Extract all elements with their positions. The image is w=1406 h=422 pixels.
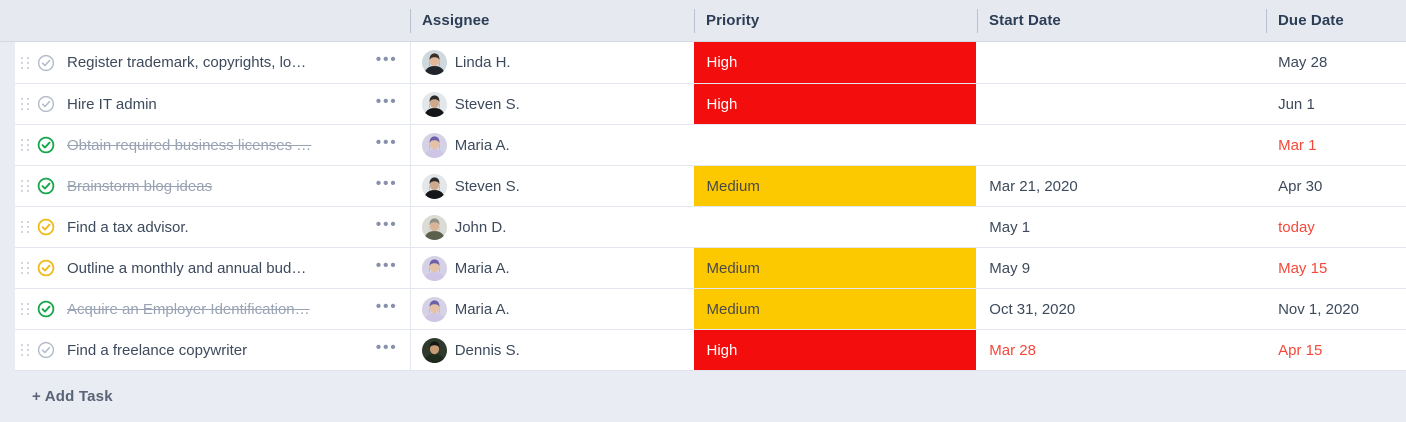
assignee-name: Steven S.: [455, 96, 520, 113]
priority-cell[interactable]: High: [694, 329, 977, 370]
check-circle-icon[interactable]: [37, 136, 55, 154]
drag-handle-icon[interactable]: [15, 57, 33, 69]
check-circle-icon[interactable]: [37, 54, 55, 72]
assignee-name: Maria A.: [455, 137, 510, 154]
start-date-value: Oct 31, 2020: [989, 301, 1075, 318]
assignee-name: Dennis S.: [455, 342, 520, 359]
due-date-value: Nov 1, 2020: [1278, 301, 1359, 318]
task-cell[interactable]: Find a tax advisor.•••: [15, 206, 410, 247]
kebab-menu-icon[interactable]: •••: [364, 140, 410, 151]
task-title: Acquire an Employer Identification…: [61, 301, 364, 318]
task-rows: Register trademark, copyrights, lo…•••Li…: [0, 42, 1406, 370]
check-circle-icon[interactable]: [37, 259, 55, 277]
kebab-menu-icon[interactable]: •••: [364, 222, 410, 233]
start-date-cell[interactable]: Oct 31, 2020: [976, 288, 1265, 329]
task-title: Find a freelance copywriter: [61, 342, 364, 359]
due-date-value: May 28: [1278, 54, 1327, 71]
priority-cell[interactable]: High: [694, 42, 977, 83]
due-date-value: today: [1278, 219, 1315, 236]
drag-handle-icon[interactable]: [15, 139, 33, 151]
table-row[interactable]: Brainstorm blog ideas•••Steven S.MediumM…: [0, 165, 1406, 206]
footer-divider: [15, 370, 1406, 371]
due-date-value: Mar 1: [1278, 137, 1316, 154]
start-date-value: May 9: [989, 260, 1030, 277]
table-row[interactable]: Hire IT admin•••Steven S.HighJun 1: [0, 83, 1406, 124]
priority-cell[interactable]: Medium: [694, 165, 977, 206]
assignee-name: Linda H.: [455, 54, 511, 71]
avatar: [422, 256, 447, 281]
priority-badge: [694, 207, 977, 248]
drag-handle-icon[interactable]: [15, 98, 33, 110]
due-date-cell[interactable]: Jun 1: [1265, 83, 1406, 124]
priority-cell[interactable]: [694, 124, 977, 165]
task-title: Brainstorm blog ideas: [61, 178, 364, 195]
assignee-cell[interactable]: Steven S.: [410, 83, 694, 124]
priority-badge: High: [694, 330, 977, 371]
start-date-cell[interactable]: [976, 124, 1265, 165]
check-circle-icon[interactable]: [37, 95, 55, 113]
due-date-value: Apr 30: [1278, 178, 1322, 195]
assignee-name: John D.: [455, 219, 507, 236]
assignee-name: Maria A.: [455, 260, 510, 277]
due-date-cell[interactable]: today: [1265, 206, 1406, 247]
priority-cell[interactable]: Medium: [694, 247, 977, 288]
column-header-due-date[interactable]: Due Date: [1266, 0, 1406, 42]
priority-cell[interactable]: High: [694, 83, 977, 124]
task-title: Find a tax advisor.: [61, 219, 364, 236]
task-cell[interactable]: Outline a monthly and annual bud…•••: [15, 247, 410, 288]
table-row[interactable]: Acquire an Employer Identification…•••Ma…: [0, 288, 1406, 329]
due-date-cell[interactable]: Apr 15: [1265, 329, 1406, 370]
task-cell[interactable]: Brainstorm blog ideas•••: [15, 165, 410, 206]
priority-cell[interactable]: [694, 206, 977, 247]
table-header-row: Assignee Priority Start Date Due Date: [0, 0, 1406, 42]
task-title: Register trademark, copyrights, lo…: [61, 54, 364, 71]
assignee-cell[interactable]: Maria A.: [410, 247, 694, 288]
column-header-task[interactable]: [0, 0, 410, 42]
column-header-priority-label: Priority: [706, 12, 759, 29]
assignee-name: Steven S.: [455, 178, 520, 195]
start-date-cell[interactable]: May 9: [976, 247, 1265, 288]
table-row[interactable]: Register trademark, copyrights, lo…•••Li…: [0, 42, 1406, 83]
due-date-cell[interactable]: May 28: [1265, 42, 1406, 83]
task-cell[interactable]: Acquire an Employer Identification…•••: [15, 288, 410, 329]
assignee-cell[interactable]: Steven S.: [410, 165, 694, 206]
due-date-value: Apr 15: [1278, 342, 1322, 359]
task-table-app: Assignee Priority Start Date Due Date Re…: [0, 0, 1406, 422]
start-date-cell[interactable]: [976, 83, 1265, 124]
due-date-cell[interactable]: May 15: [1265, 247, 1406, 288]
avatar: [422, 174, 447, 199]
column-header-assignee-label: Assignee: [422, 12, 490, 29]
kebab-menu-icon[interactable]: •••: [364, 263, 410, 274]
priority-badge: [694, 125, 977, 166]
kebab-menu-icon[interactable]: •••: [364, 345, 410, 356]
assignee-cell[interactable]: Maria A.: [410, 288, 694, 329]
task-title: Outline a monthly and annual bud…: [61, 260, 364, 277]
task-cell[interactable]: Register trademark, copyrights, lo…•••: [15, 42, 410, 83]
kebab-menu-icon[interactable]: •••: [364, 99, 410, 110]
check-circle-icon[interactable]: [37, 177, 55, 195]
due-date-value: May 15: [1278, 260, 1327, 277]
kebab-menu-icon[interactable]: •••: [364, 181, 410, 192]
column-header-start-date-label: Start Date: [989, 12, 1061, 29]
due-date-cell[interactable]: Mar 1: [1265, 124, 1406, 165]
priority-cell[interactable]: Medium: [694, 288, 977, 329]
task-title: Obtain required business licenses …: [61, 137, 364, 154]
priority-badge: High: [694, 84, 977, 125]
drag-handle-icon[interactable]: [15, 180, 33, 192]
check-circle-icon[interactable]: [37, 341, 55, 359]
table-row[interactable]: Find a tax advisor.•••John D.May 1today: [0, 206, 1406, 247]
assignee-cell[interactable]: John D.: [410, 206, 694, 247]
column-header-priority[interactable]: Priority: [694, 0, 977, 42]
start-date-value: Mar 28: [989, 342, 1036, 359]
due-date-value: Jun 1: [1278, 96, 1315, 113]
drag-handle-icon[interactable]: [15, 221, 33, 233]
drag-handle-icon[interactable]: [15, 344, 33, 356]
task-cell[interactable]: Obtain required business licenses …•••: [15, 124, 410, 165]
start-date-cell[interactable]: [976, 42, 1265, 83]
due-date-cell[interactable]: Apr 30: [1265, 165, 1406, 206]
start-date-cell[interactable]: May 1: [976, 206, 1265, 247]
avatar: [422, 133, 447, 158]
drag-handle-icon[interactable]: [15, 262, 33, 274]
avatar: [422, 297, 447, 322]
due-date-cell[interactable]: Nov 1, 2020: [1265, 288, 1406, 329]
priority-badge: High: [694, 42, 977, 83]
avatar: [422, 50, 447, 75]
assignee-cell[interactable]: Dennis S.: [410, 329, 694, 370]
avatar: [422, 215, 447, 240]
task-title: Hire IT admin: [61, 96, 364, 113]
priority-badge: Medium: [694, 289, 977, 330]
avatar: [422, 92, 447, 117]
check-circle-icon[interactable]: [37, 218, 55, 236]
kebab-menu-icon[interactable]: •••: [364, 57, 410, 68]
start-date-cell[interactable]: Mar 21, 2020: [976, 165, 1265, 206]
check-circle-icon[interactable]: [37, 300, 55, 318]
table-footer: + Add Task: [0, 370, 1406, 422]
column-header-assignee[interactable]: Assignee: [410, 0, 694, 42]
table-row[interactable]: Obtain required business licenses …•••Ma…: [0, 124, 1406, 165]
table-row[interactable]: Find a freelance copywriter•••Dennis S.H…: [0, 329, 1406, 370]
start-date-cell[interactable]: Mar 28: [976, 329, 1265, 370]
task-cell[interactable]: Find a freelance copywriter•••: [15, 329, 410, 370]
start-date-value: May 1: [989, 219, 1030, 236]
drag-handle-icon[interactable]: [15, 303, 33, 315]
kebab-menu-icon[interactable]: •••: [364, 304, 410, 315]
column-header-due-date-label: Due Date: [1278, 12, 1344, 29]
assignee-name: Maria A.: [455, 301, 510, 318]
add-task-button[interactable]: + Add Task: [32, 388, 113, 405]
column-header-start-date[interactable]: Start Date: [977, 0, 1266, 42]
priority-badge: Medium: [694, 248, 977, 289]
start-date-value: Mar 21, 2020: [989, 178, 1077, 195]
task-cell[interactable]: Hire IT admin•••: [15, 83, 410, 124]
avatar: [422, 338, 447, 363]
assignee-cell[interactable]: Linda H.: [410, 42, 694, 83]
table-row[interactable]: Outline a monthly and annual bud…•••Mari…: [0, 247, 1406, 288]
assignee-cell[interactable]: Maria A.: [410, 124, 694, 165]
priority-badge: Medium: [694, 166, 977, 207]
